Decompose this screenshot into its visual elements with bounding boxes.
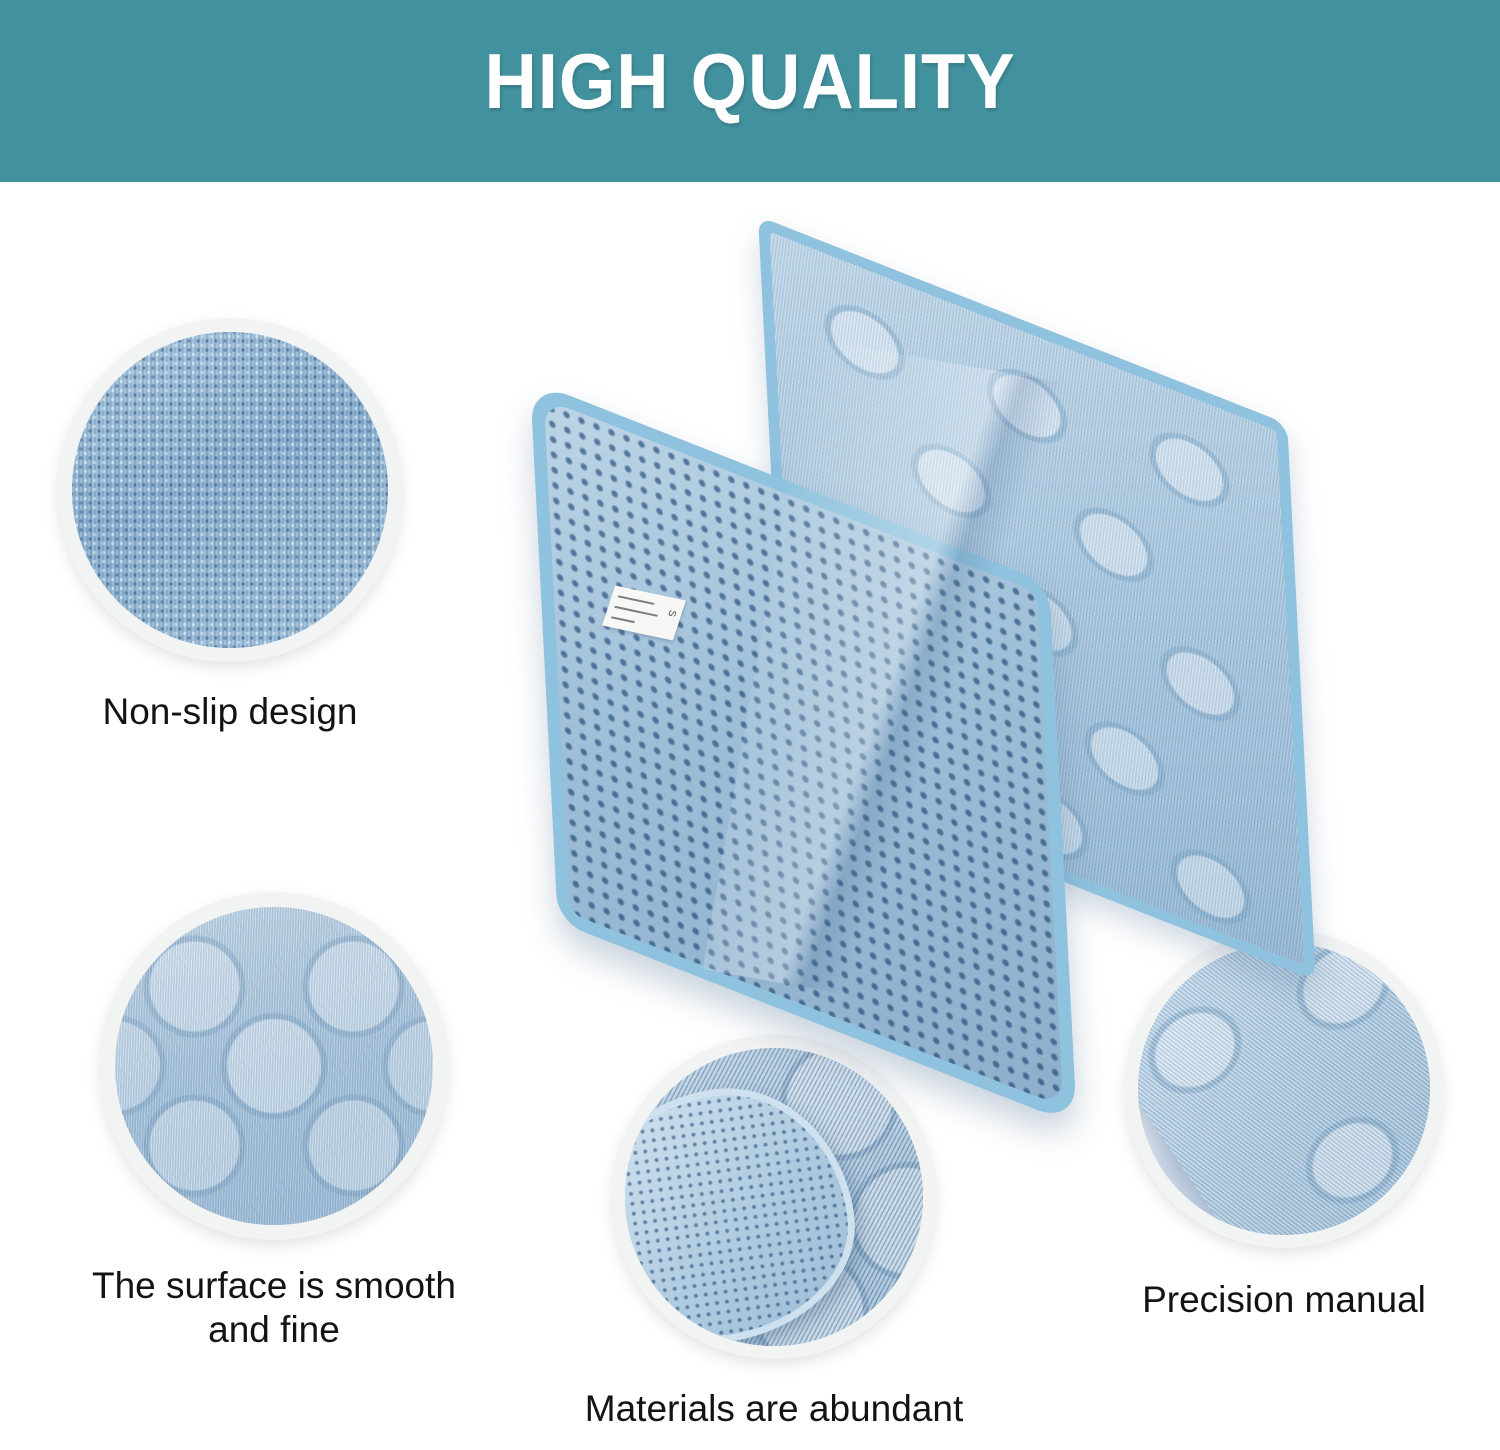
header-banner: HIGH QUALITY: [0, 0, 1500, 182]
label-line: [614, 606, 658, 617]
feature-non-slip-caption: Non-slip design: [48, 690, 412, 734]
non-slip-texture: [72, 332, 388, 648]
label-line: [611, 617, 635, 624]
feature-smooth-surface-image: [100, 892, 448, 1240]
feature-non-slip: Non-slip design: [58, 318, 402, 662]
cooling-mat: S: [520, 200, 1320, 1010]
quilted-surface-texture: [115, 907, 433, 1225]
product-image: S: [520, 200, 1320, 1010]
feature-precision-manual-caption: Precision manual: [1097, 1278, 1471, 1322]
feature-smooth-surface: The surface is smooth and fine: [100, 892, 448, 1240]
feature-smooth-surface-caption: The surface is smooth and fine: [90, 1264, 458, 1351]
feature-non-slip-image: [58, 318, 402, 662]
materials-texture: [625, 1048, 923, 1346]
feature-materials: Materials are abundant: [612, 1035, 936, 1359]
feature-materials-image: [612, 1035, 936, 1359]
feature-materials-caption: Materials are abundant: [558, 1387, 990, 1431]
label-line: [618, 595, 655, 605]
page-title: HIGH QUALITY: [53, 42, 1448, 120]
